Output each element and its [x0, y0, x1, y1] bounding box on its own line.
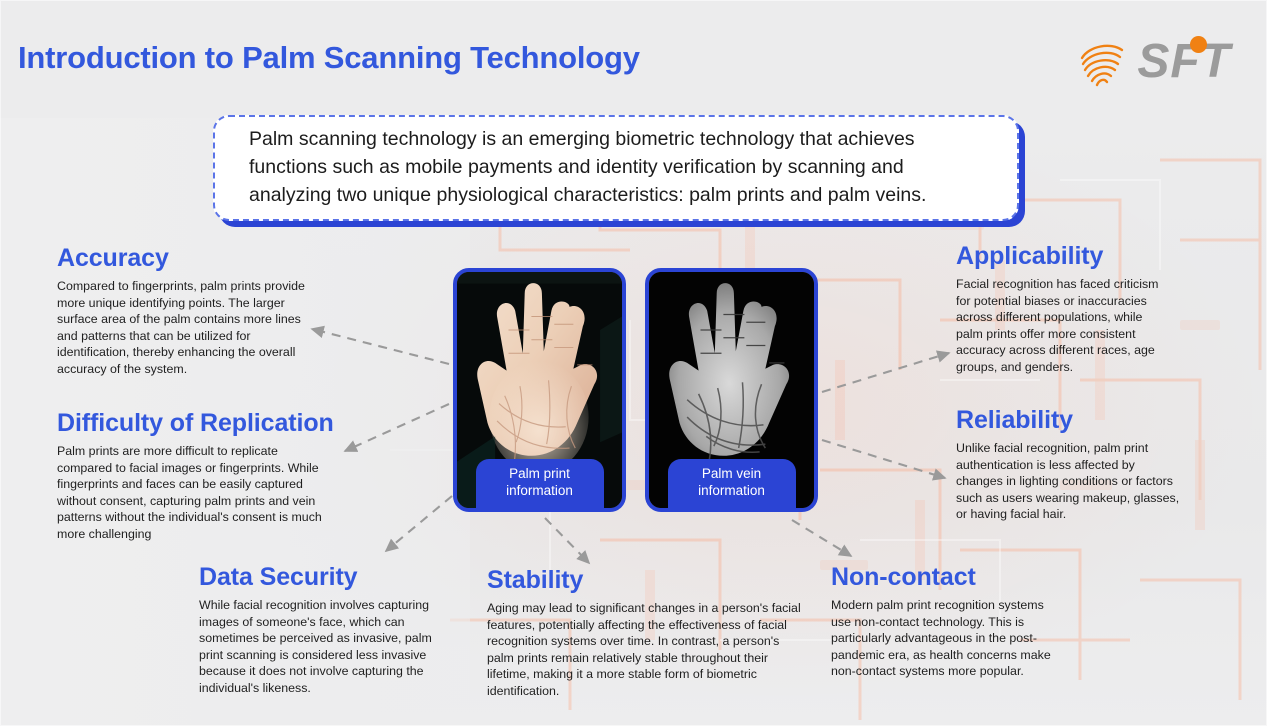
intro-callout: Palm scanning technology is an emerging …	[213, 115, 1019, 221]
page-title: Introduction to Palm Scanning Technology	[18, 40, 640, 76]
arrow-to-stability	[545, 518, 589, 563]
feature-stability-heading: Stability	[487, 566, 805, 595]
feature-difficulty-of-replication: Difficulty of Replication Palm prints ar…	[57, 409, 335, 542]
palm-print-label: Palm print information	[476, 459, 604, 508]
feature-reliability-heading: Reliability	[956, 406, 1182, 435]
feature-difficulty-body: Palm prints are more difficult to replic…	[57, 443, 335, 542]
palm-print-label-line2: information	[480, 483, 600, 499]
feature-accuracy-body: Compared to fingerprints, palm prints pr…	[57, 278, 319, 377]
feature-non-contact-body: Modern palm print recognition systems us…	[831, 597, 1061, 680]
arrow-to-non-contact	[792, 520, 851, 556]
feature-data-security: Data Security While facial recognition i…	[199, 563, 447, 696]
arrow-to-reliability	[822, 440, 945, 478]
brand-logo: SFT	[1077, 36, 1231, 88]
feature-applicability-body: Facial recognition has faced criticism f…	[956, 276, 1168, 375]
feature-accuracy-heading: Accuracy	[57, 244, 319, 273]
palm-vein-label-line2: information	[672, 483, 792, 499]
feature-non-contact: Non-contact Modern palm print recognitio…	[831, 563, 1061, 680]
palm-print-card[interactable]: Palm print information	[453, 268, 626, 512]
palm-vein-card[interactable]: Palm vein information	[645, 268, 818, 512]
palm-print-label-line1: Palm print	[480, 466, 600, 482]
arrow-to-accuracy	[312, 329, 449, 364]
logo-wordmark: SFT	[1137, 38, 1231, 86]
arrow-to-applicability	[822, 353, 949, 392]
feature-stability-body: Aging may lead to significant changes in…	[487, 600, 805, 699]
logo-accent-dot	[1190, 36, 1207, 53]
feature-applicability: Applicability Facial recognition has fac…	[956, 242, 1168, 375]
feature-reliability-body: Unlike facial recognition, palm print au…	[956, 440, 1182, 523]
arrow-to-difficulty	[345, 404, 449, 451]
feature-data-security-body: While facial recognition involves captur…	[199, 597, 447, 696]
callout-text: Palm scanning technology is an emerging …	[249, 126, 983, 209]
feature-data-security-heading: Data Security	[199, 563, 447, 592]
callout-box: Palm scanning technology is an emerging …	[213, 115, 1019, 221]
logo-text: SFT	[1137, 35, 1231, 88]
feature-non-contact-heading: Non-contact	[831, 563, 1061, 592]
palm-vein-label: Palm vein information	[668, 459, 796, 508]
feature-stability: Stability Aging may lead to significant …	[487, 566, 805, 699]
palm-vein-label-line1: Palm vein	[672, 466, 792, 482]
feature-difficulty-heading: Difficulty of Replication	[57, 409, 335, 438]
fingerprint-icon	[1077, 36, 1129, 88]
feature-reliability: Reliability Unlike facial recognition, p…	[956, 406, 1182, 523]
feature-applicability-heading: Applicability	[956, 242, 1168, 271]
feature-accuracy: Accuracy Compared to fingerprints, palm …	[57, 244, 319, 377]
arrow-to-data-security	[386, 496, 452, 551]
slide-canvas: Introduction to Palm Scanning Technology…	[0, 0, 1267, 726]
